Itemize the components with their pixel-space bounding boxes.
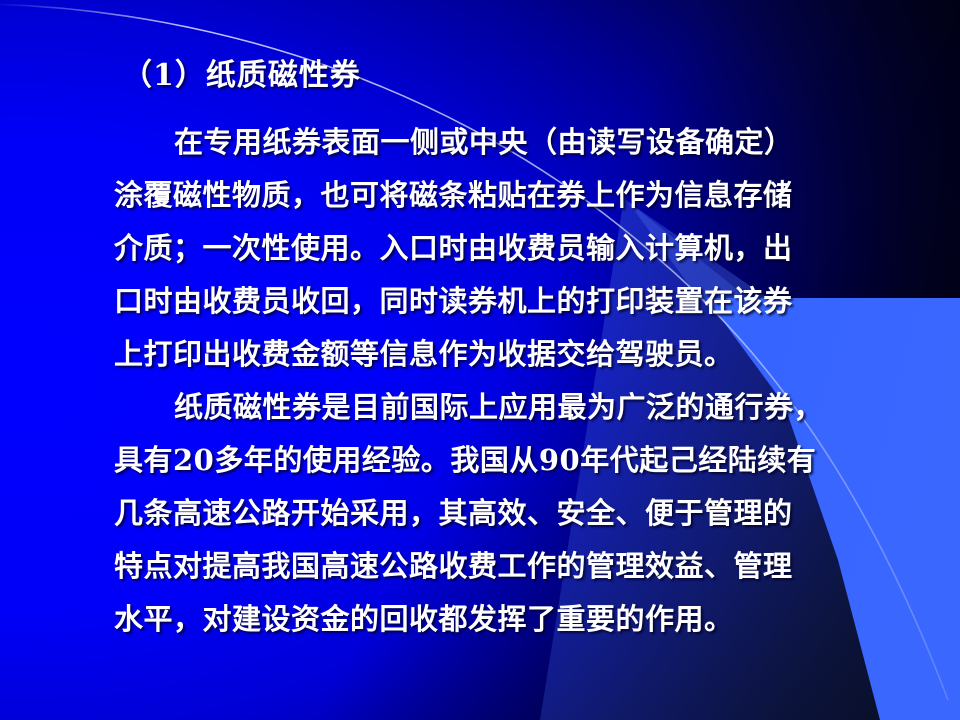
- text-line: 口时由收费员收回，同时读券机上的打印装置在该券: [114, 275, 914, 328]
- text-line: 介质；一次性使用。入口时由收费员输入计算机，出: [114, 222, 914, 275]
- slide-body: 在专用纸券表面一侧或中央（由读写设备确定） 涂覆磁性物质，也可将磁条粘贴在券上作…: [114, 116, 914, 646]
- text-line: 特点对提高我国高速公路收费工作的管理效益、管理: [114, 540, 914, 593]
- slide-heading: （1）纸质磁性券: [122, 50, 361, 94]
- text-line: 具有20多年的使用经验。我国从90年代起己经陆续有: [114, 434, 914, 487]
- text-line: 纸质磁性券是目前国际上应用最为广泛的通行券，: [114, 381, 914, 434]
- presentation-slide: （1）纸质磁性券 在专用纸券表面一侧或中央（由读写设备确定） 涂覆磁性物质，也可…: [0, 0, 960, 720]
- paragraph-1: 在专用纸券表面一侧或中央（由读写设备确定） 涂覆磁性物质，也可将磁条粘贴在券上作…: [114, 116, 914, 381]
- text-line: 在专用纸券表面一侧或中央（由读写设备确定）: [114, 116, 914, 169]
- paragraph-2: 纸质磁性券是目前国际上应用最为广泛的通行券， 具有20多年的使用经验。我国从90…: [114, 381, 914, 646]
- slide-text-content: （1）纸质磁性券 在专用纸券表面一侧或中央（由读写设备确定） 涂覆磁性物质，也可…: [0, 0, 960, 720]
- text-line: 几条高速公路开始采用，其高效、安全、便于管理的: [114, 487, 914, 540]
- text-line: 上打印出收费金额等信息作为收据交给驾驶员。: [114, 328, 914, 381]
- text-line: 涂覆磁性物质，也可将磁条粘贴在券上作为信息存储: [114, 169, 914, 222]
- text-line: 水平，对建设资金的回收都发挥了重要的作用。: [114, 593, 914, 646]
